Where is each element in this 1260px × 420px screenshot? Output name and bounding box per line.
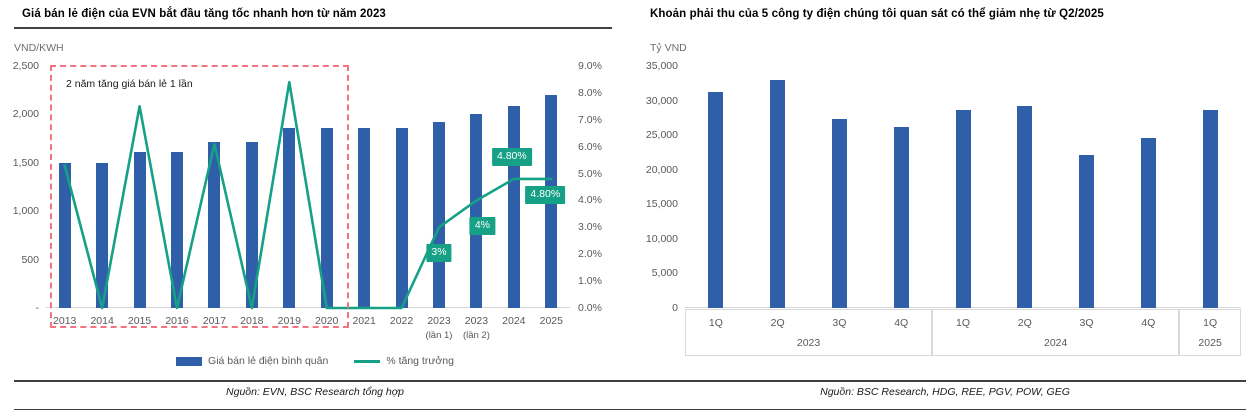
right-source-note: Nguồn: BSC Research, HDG, REE, PGV, POW,… [630,386,1260,398]
left-y-tick: - [36,302,40,314]
left-plot-area: -5001,0001,5002,0002,5000.0%1.0%2.0%3.0%… [46,66,570,308]
left-x-label-5: 2018 [240,315,263,327]
left-x-label-11: 2023 [465,315,488,327]
left-data-label-10: 3% [426,244,451,262]
right-group-label-2024: 2024 [1044,337,1067,349]
left-y2-tick: 7.0% [578,114,602,126]
left-chart-legend: Giá bán lẻ điện bình quân % tăng trưởng [0,355,630,367]
left-y-tick: 1,000 [13,205,39,217]
right-chart-title: Khoản phải thu của 5 công ty điện chúng … [650,8,1104,20]
right-y-tick: 10,000 [646,233,678,245]
left-x-label-9: 2022 [390,315,413,327]
left-y2-tick: 0.0% [578,302,602,314]
legend-label-line: % tăng trưởng [386,355,454,367]
right-y-tick: 0 [672,302,678,314]
left-y2-tick: 4.0% [578,194,602,206]
left-x-label-6: 2019 [278,315,301,327]
left-x-label-4: 2017 [203,315,226,327]
right-plot-area: 05,00010,00015,00020,00025,00030,00035,0… [685,66,1241,308]
left-y2-tick: 8.0% [578,87,602,99]
bar-receivable-7 [1141,138,1156,308]
left-y-tick: 1,500 [13,157,39,169]
left-chart-panel: Giá bán lẻ điện của EVN bắt đầu tăng tốc… [0,0,630,420]
right-y-tick: 35,000 [646,60,678,72]
bar-receivable-2 [832,119,847,308]
left-source-note: Nguồn: EVN, BSC Research tổng hợp [0,386,630,398]
left-data-label-11: 4% [470,217,495,235]
right-y-tick: 20,000 [646,164,678,176]
left-y2-tick: 5.0% [578,168,602,180]
bar-receivable-4 [956,110,971,308]
chart-page: Giá bán lẻ điện của EVN bắt đầu tăng tốc… [0,0,1260,420]
left-x-label-13: 2025 [540,315,563,327]
legend-swatch-bar-icon [176,357,202,366]
left-x-sublabel-11: (lần 2) [463,330,490,341]
left-data-label-12: 4.80% [492,148,532,166]
legend-item-line: % tăng trưởng [354,355,454,367]
left-x-label-7: 2020 [315,315,338,327]
left-x-label-0: 2013 [53,315,76,327]
right-group-top-rule [685,309,1241,310]
left-y2-tick: 6.0% [578,141,602,153]
bar-receivable-6 [1079,155,1094,308]
left-x-sublabel-10: (lần 1) [426,330,453,341]
left-x-label-3: 2016 [165,315,188,327]
bar-receivable-0 [708,92,723,308]
left-y-tick: 500 [21,254,39,266]
left-title-divider [14,27,612,29]
left-chart-title: Giá bán lẻ điện của EVN bắt đầu tăng tốc… [22,8,386,20]
left-y-tick: 2,500 [13,60,39,72]
bar-receivable-1 [770,80,785,308]
legend-label-bar: Giá bán lẻ điện bình quân [208,355,328,367]
left-x-label-10: 2023 [427,315,450,327]
left-x-label-12: 2024 [502,315,525,327]
bar-receivable-3 [894,127,909,308]
right-y-tick: 25,000 [646,129,678,141]
right-group-bottom-rule [685,355,1241,356]
bar-receivable-8 [1203,110,1218,308]
legend-swatch-line-icon [354,360,380,363]
left-x-label-8: 2021 [352,315,375,327]
right-y-tick: 5,000 [652,267,678,279]
right-y-axis-unit: Tỷ VND [650,42,687,54]
right-y-tick: 15,000 [646,198,678,210]
right-y-tick: 30,000 [646,95,678,107]
right-group-label-2023: 2023 [797,337,820,349]
left-data-label-13: 4.80% [525,186,565,204]
right-group-label-2025: 2025 [1198,337,1221,349]
annotation-text: 2 năm tăng giá bán lẻ 1 lần [66,78,193,90]
left-y2-tick: 2.0% [578,248,602,260]
left-y2-tick: 9.0% [578,60,602,72]
left-y-tick: 2,000 [13,108,39,120]
left-y2-tick: 1.0% [578,275,602,287]
bar-receivable-5 [1017,106,1032,308]
left-y-axis-unit: VND/KWH [14,42,64,54]
legend-item-bar: Giá bán lẻ điện bình quân [176,355,328,367]
left-x-label-1: 2014 [90,315,113,327]
left-line-series [46,66,570,308]
left-y2-tick: 3.0% [578,221,602,233]
footer-divider-bottom [14,409,1246,410]
left-x-label-2: 2015 [128,315,151,327]
footer-divider-top [14,380,1246,382]
